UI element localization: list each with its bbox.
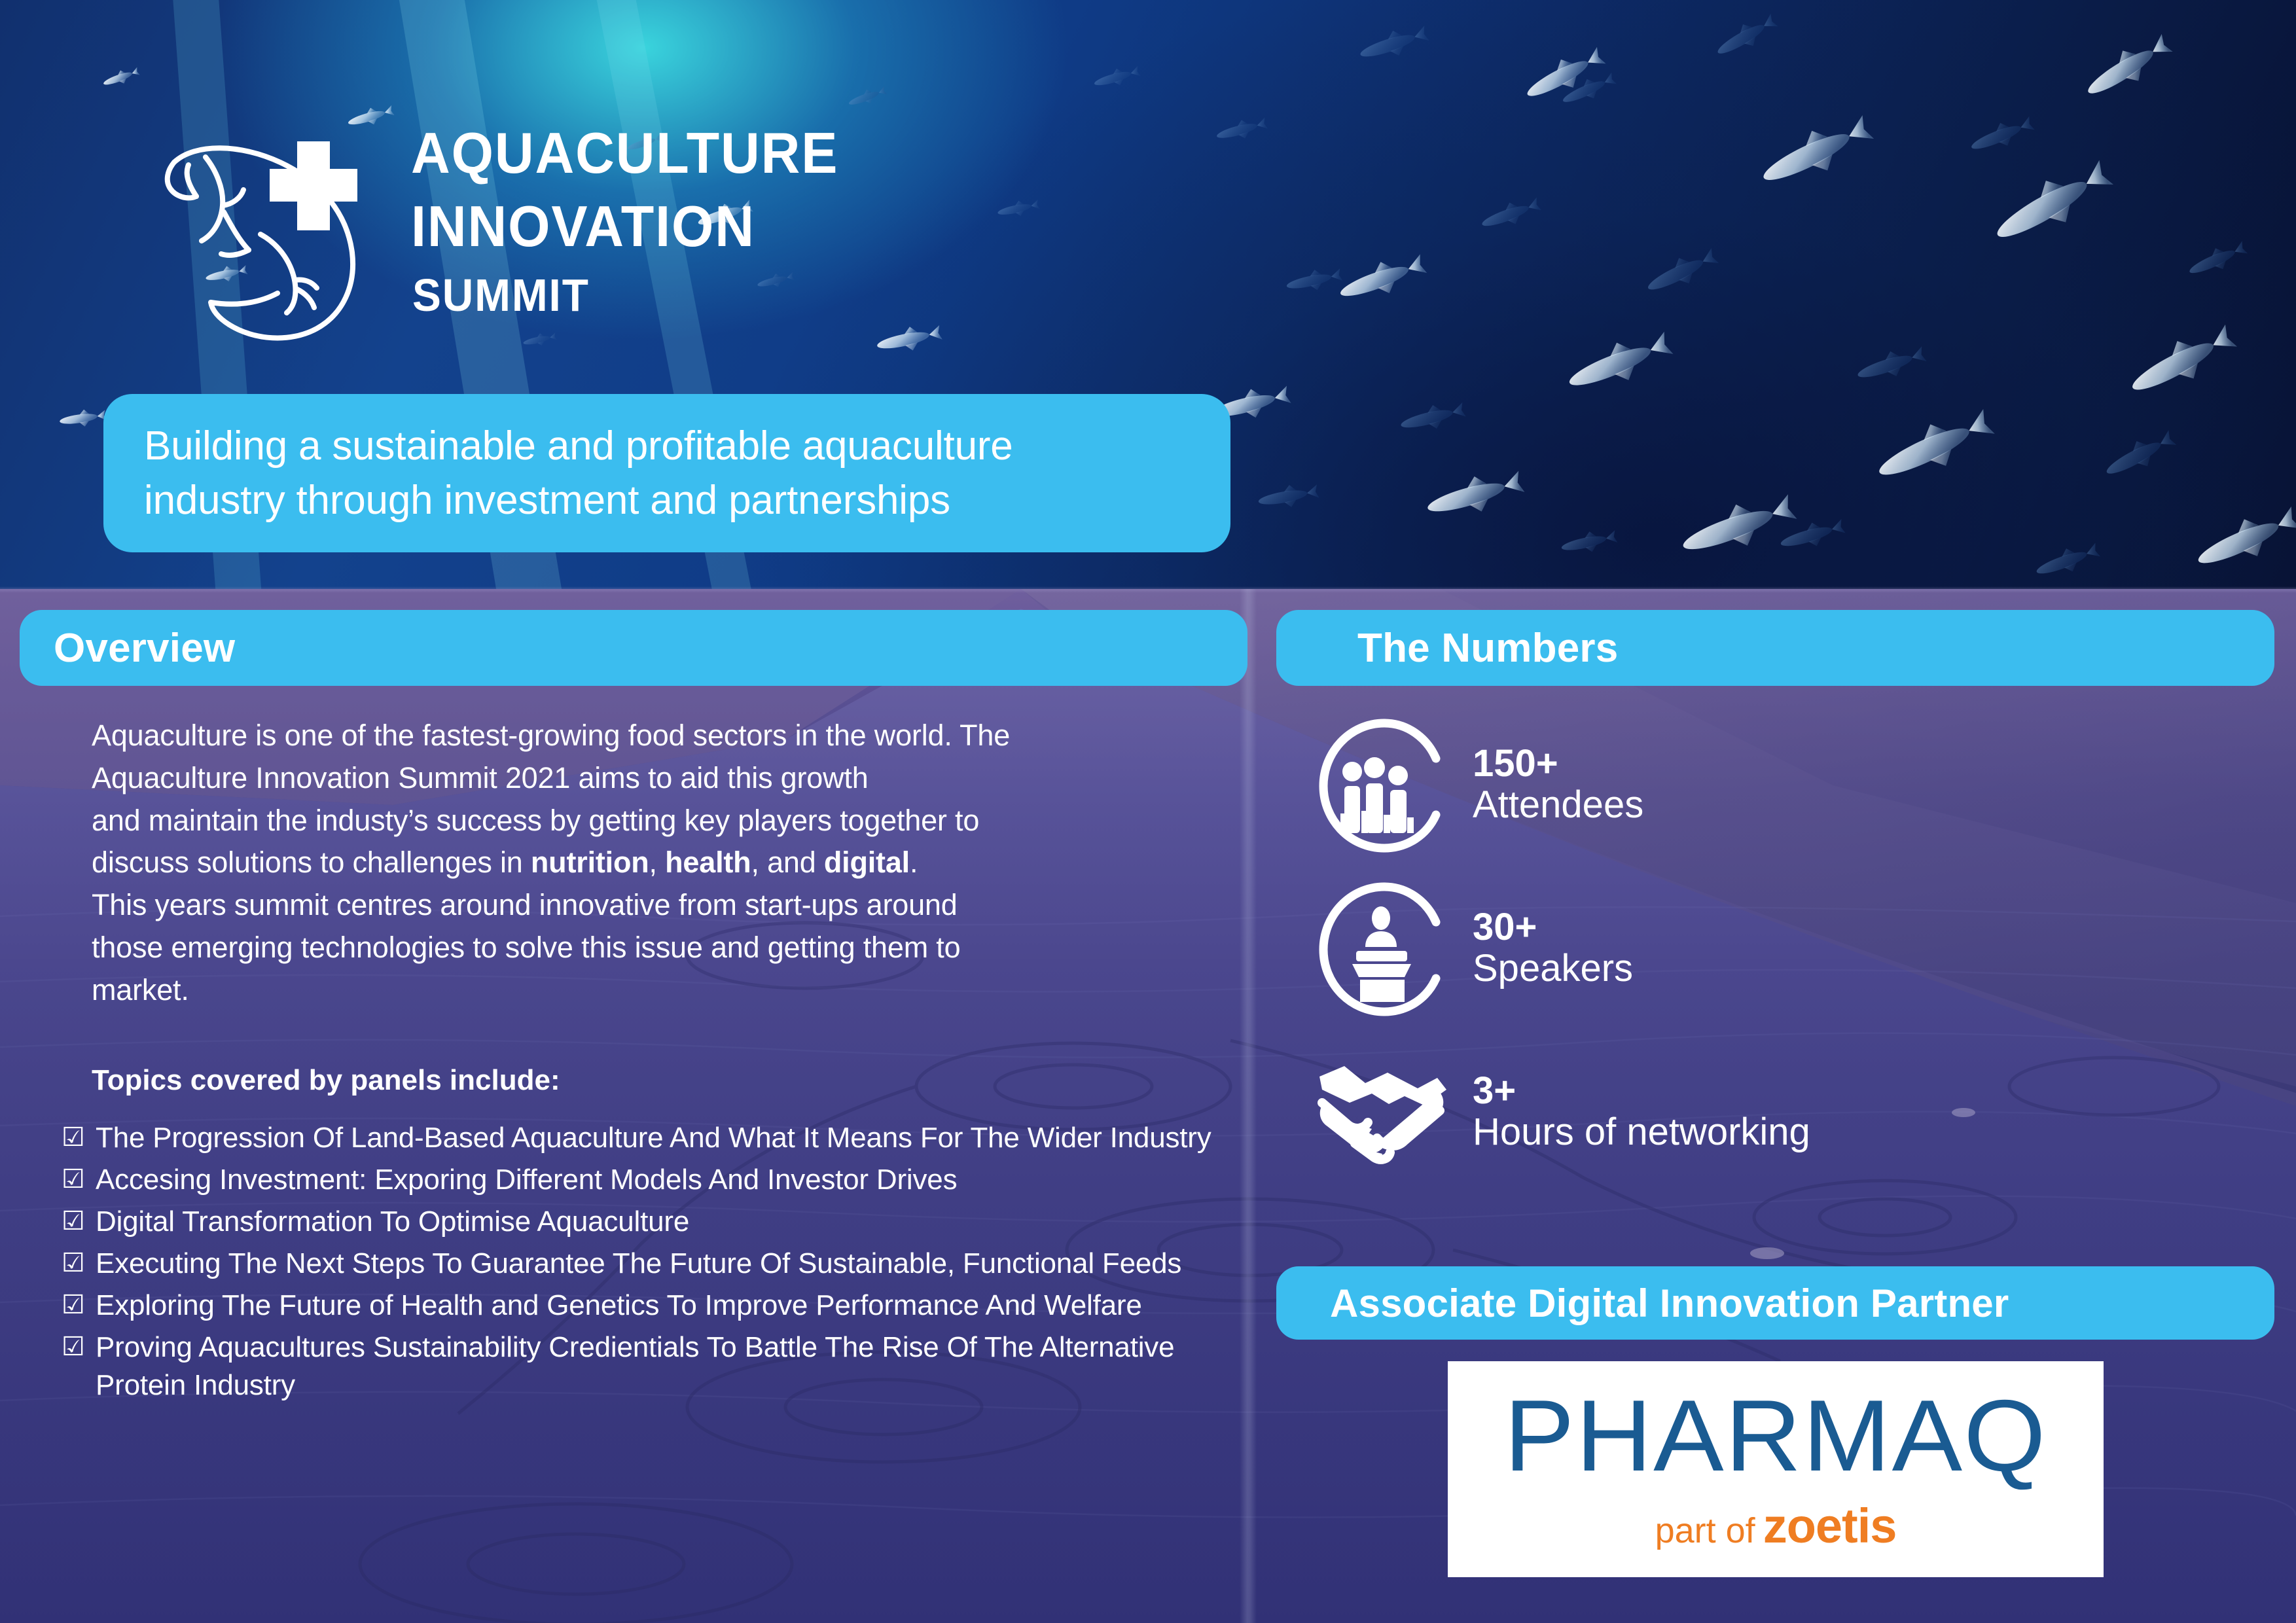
checked-checkbox-icon: ☑ bbox=[62, 1287, 96, 1323]
numbers-title: The Numbers bbox=[1310, 625, 1618, 671]
topic-item: ☑Proving Aquacultures Sustainability Cre… bbox=[62, 1329, 1259, 1404]
podium-speaker-glyph bbox=[1309, 879, 1460, 1020]
stat-row: 150+ Attendees bbox=[1309, 704, 2278, 867]
speaker-at-podium-icon bbox=[1309, 879, 1460, 1020]
topic-label: The Progression Of Land-Based Aquacultur… bbox=[96, 1119, 1211, 1157]
logo-line-2: INNOVATION bbox=[411, 198, 838, 255]
sponsor-logo-card[interactable]: PHARMAQ part of zoetis bbox=[1448, 1361, 2104, 1577]
group-of-people-glyph bbox=[1309, 715, 1460, 856]
stat-value: 30+ bbox=[1473, 908, 1633, 947]
stat-text: 3+ Hours of networking bbox=[1460, 1071, 1810, 1153]
overview-paragraph: Aquaculture is one of the fastest-growin… bbox=[92, 715, 1257, 1012]
overview-line-6: those emerging technologies to solve thi… bbox=[92, 927, 1257, 969]
sponsor-name: PHARMAQ bbox=[1504, 1385, 2047, 1486]
group-of-people-icon bbox=[1309, 715, 1460, 856]
handshake-glyph bbox=[1309, 1043, 1460, 1183]
topic-label: Exploring The Future of Health and Genet… bbox=[96, 1287, 1142, 1325]
handshake-icon bbox=[1309, 1043, 1460, 1183]
checked-checkbox-icon: ☑ bbox=[62, 1203, 96, 1239]
overview-line-4: discuss solutions to challenges in nutri… bbox=[92, 842, 1257, 884]
topic-item: ☑Exploring The Future of Health and Gene… bbox=[62, 1287, 1259, 1325]
topic-label: Proving Aquacultures Sustainability Cred… bbox=[96, 1329, 1259, 1404]
logo-line-1: AQUACULTURE bbox=[411, 124, 838, 182]
sponsor-parent-brand: zoetis bbox=[1763, 1498, 1897, 1554]
logo-line-3: SUMMIT bbox=[412, 272, 838, 318]
overview-line-7: market. bbox=[92, 969, 1257, 1012]
topic-label: Executing The Next Steps To Guarantee Th… bbox=[96, 1245, 1181, 1283]
event-logo: AQUACULTURE INNOVATION SUMMIT bbox=[156, 124, 941, 366]
overview-line-5: This years summit centres around innovat… bbox=[92, 884, 1257, 927]
topic-label: Digital Transformation To Optimise Aquac… bbox=[96, 1203, 689, 1241]
logo-wordmark: AQUACULTURE INNOVATION SUMMIT bbox=[411, 124, 866, 318]
partner-title: Associate Digital Innovation Partner bbox=[1310, 1281, 2009, 1326]
topic-item: ☑The Progression Of Land-Based Aquacultu… bbox=[62, 1119, 1259, 1157]
stat-label: Speakers bbox=[1473, 948, 1633, 990]
stat-value: 3+ bbox=[1473, 1071, 1810, 1111]
checked-checkbox-icon: ☑ bbox=[62, 1245, 96, 1281]
background-horizontal-seam bbox=[0, 586, 2296, 593]
checked-checkbox-icon: ☑ bbox=[62, 1119, 96, 1155]
topic-item: ☑Accesing Investment: Exporing Different… bbox=[62, 1161, 1259, 1199]
numbers-section-header: The Numbers bbox=[1276, 610, 2274, 686]
overview-line-1: Aquaculture is one of the fastest-growin… bbox=[92, 715, 1257, 757]
sponsor-subline: part of zoetis bbox=[1655, 1498, 1897, 1554]
stat-label: Attendees bbox=[1473, 784, 1643, 827]
overview-section-header: Overview bbox=[20, 610, 1247, 686]
overview-title: Overview bbox=[54, 625, 235, 671]
checked-checkbox-icon: ☑ bbox=[62, 1161, 96, 1197]
poster-root: AQUACULTURE INNOVATION SUMMIT Building a… bbox=[0, 0, 2296, 1623]
fish-with-medical-cross-icon bbox=[156, 128, 372, 351]
stat-row: 3+ Hours of networking bbox=[1309, 1031, 2278, 1194]
overview-line-3: and maintain the industy’s success by ge… bbox=[92, 800, 1257, 842]
tagline-banner: Building a sustainable and profitable aq… bbox=[103, 394, 1230, 552]
stat-text: 150+ Attendees bbox=[1460, 744, 1643, 826]
topic-item: ☑Executing The Next Steps To Guarantee T… bbox=[62, 1245, 1259, 1283]
topic-item: ☑Digital Transformation To Optimise Aqua… bbox=[62, 1203, 1259, 1241]
stat-value: 150+ bbox=[1473, 744, 1643, 783]
partner-section-header: Associate Digital Innovation Partner bbox=[1276, 1266, 2274, 1340]
numbers-stats: 150+ Attendees bbox=[1309, 704, 2278, 1194]
stat-row: 30+ Speakers bbox=[1309, 867, 2278, 1031]
topics-heading: Topics covered by panels include: bbox=[92, 1064, 560, 1097]
sponsor-part-of-label: part of bbox=[1655, 1510, 1755, 1551]
topic-label: Accesing Investment: Exporing Different … bbox=[96, 1161, 957, 1199]
topics-list: ☑The Progression Of Land-Based Aquacultu… bbox=[62, 1119, 1259, 1409]
stat-label: Hours of networking bbox=[1473, 1111, 1810, 1154]
tagline-line-2: industry through investment and partners… bbox=[144, 473, 950, 527]
overview-line-2: Aquaculture Innovation Summit 2021 aims … bbox=[92, 757, 1257, 800]
checked-checkbox-icon: ☑ bbox=[62, 1329, 96, 1364]
tagline-line-1: Building a sustainable and profitable aq… bbox=[144, 419, 1013, 473]
stat-text: 30+ Speakers bbox=[1460, 908, 1633, 990]
